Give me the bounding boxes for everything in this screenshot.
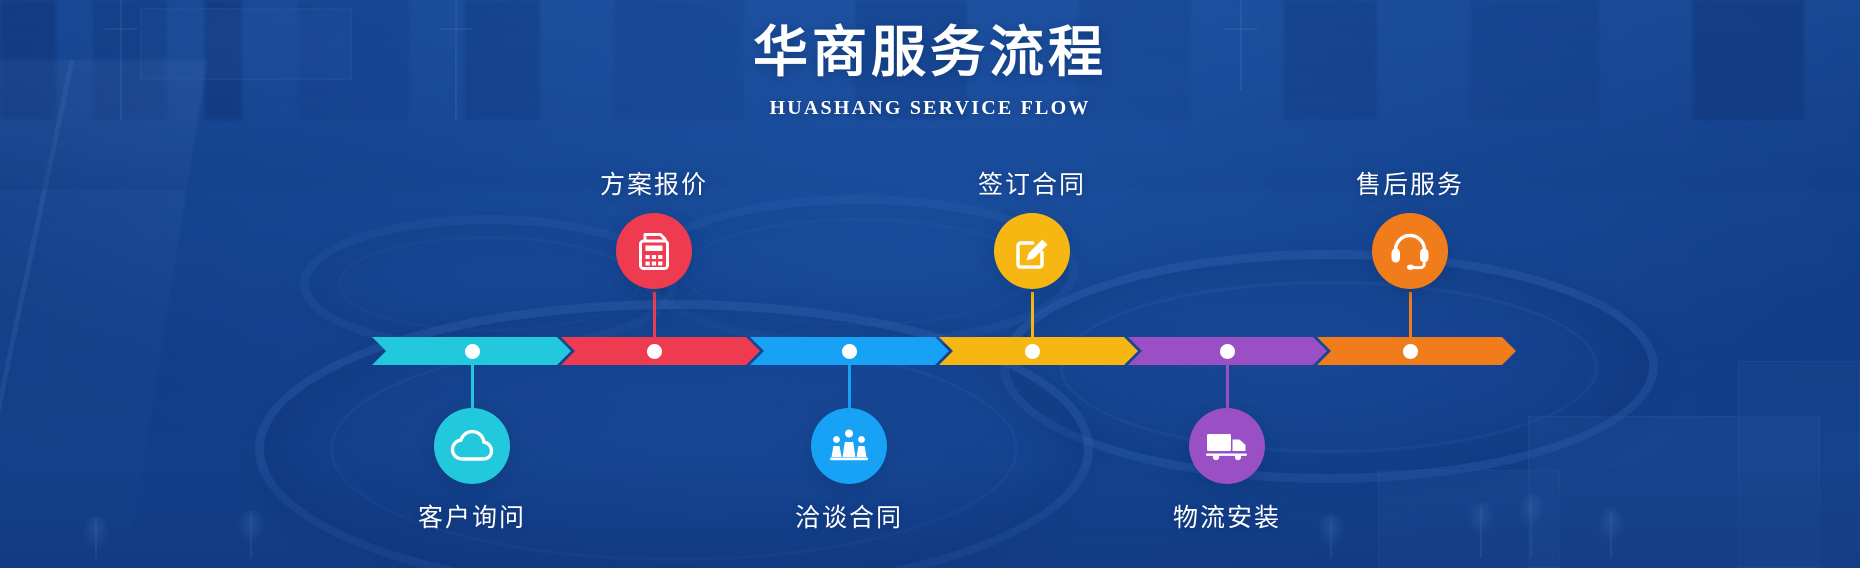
flow-step-4-icon-circle[interactable] xyxy=(994,213,1070,289)
meeting-icon xyxy=(827,426,871,466)
flow-step-3-icon-circle[interactable] xyxy=(811,408,887,484)
flow-step-2-icon-circle[interactable] xyxy=(616,213,692,289)
connector-stem-1 xyxy=(471,352,474,410)
flow-step-5-icon-circle[interactable] xyxy=(1189,408,1265,484)
cloud-icon xyxy=(450,428,494,464)
flow-dot-4 xyxy=(1025,344,1040,359)
flow-step-3-label: 洽谈合同 xyxy=(699,498,999,534)
flow-dot-3 xyxy=(842,344,857,359)
flow-step-2[interactable]: 方案报价 xyxy=(504,165,804,289)
truck-icon xyxy=(1204,429,1250,463)
flow-step-1[interactable]: 客户询问 xyxy=(322,408,622,534)
flow-step-1-icon-circle[interactable] xyxy=(434,408,510,484)
flow-step-6-label: 售后服务 xyxy=(1260,165,1560,201)
flow-step-5[interactable]: 物流安装 xyxy=(1077,408,1377,534)
flow-dot-1 xyxy=(465,344,480,359)
flow-step-1-label: 客户询问 xyxy=(322,498,622,534)
flow-step-6[interactable]: 售后服务 xyxy=(1260,165,1560,289)
flow-step-6-icon-circle[interactable] xyxy=(1372,213,1448,289)
flow-step-2-label: 方案报价 xyxy=(504,165,804,201)
flow-dot-2 xyxy=(647,344,662,359)
connector-stem-5 xyxy=(1226,352,1229,410)
calculator-icon xyxy=(634,230,674,272)
flow-arrow-bar xyxy=(372,337,1508,365)
headset-icon xyxy=(1388,230,1432,272)
service-flow-banner: 华商服务流程 HUASHANG SERVICE FLOW xyxy=(0,0,1860,568)
pen-edit-icon xyxy=(1010,229,1054,273)
flow-step-3[interactable]: 洽谈合同 xyxy=(699,408,999,534)
flow-dot-6 xyxy=(1403,344,1418,359)
process-flow: 客户询问 方案报价 xyxy=(0,0,1860,568)
flow-dot-5 xyxy=(1220,344,1235,359)
flow-step-4-label: 签订合同 xyxy=(882,165,1182,201)
connector-stem-3 xyxy=(848,352,851,410)
flow-step-4[interactable]: 签订合同 xyxy=(882,165,1182,289)
connector-stem-2 xyxy=(653,292,656,350)
connector-stem-6 xyxy=(1409,292,1412,350)
flow-step-5-label: 物流安装 xyxy=(1077,498,1377,534)
connector-stem-4 xyxy=(1031,292,1034,350)
